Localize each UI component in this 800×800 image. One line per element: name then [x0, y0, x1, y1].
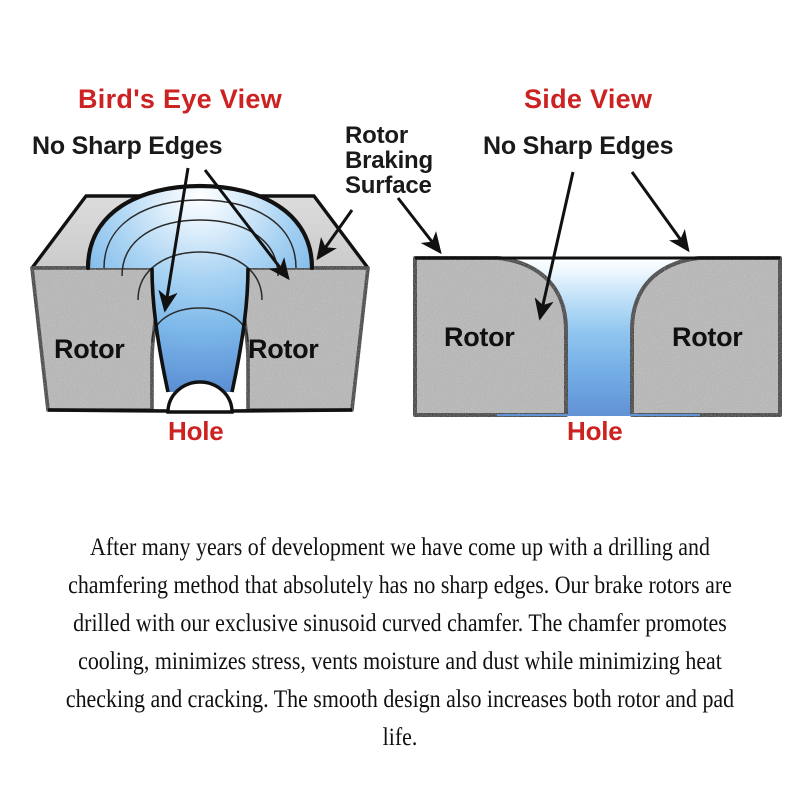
birds-eye-rotor-label-right: Rotor: [248, 334, 318, 365]
block-bottom-edge-right: [232, 410, 352, 411]
rotor-chamfer-illustration: [0, 0, 800, 470]
side-view-title: Side View: [524, 86, 652, 114]
side-view-rotor-label-left: Rotor: [444, 322, 514, 353]
arrow-no-sharp-edges-side-right: [632, 172, 688, 250]
arrow-braking-surface-side: [398, 198, 440, 252]
birds-eye-no-sharp-edges-label: No Sharp Edges: [32, 134, 222, 160]
birds-eye-rotor-label-left: Rotor: [54, 334, 124, 365]
side-view-rotor-label-right: Rotor: [672, 322, 742, 353]
birds-eye-hole-label: Hole: [168, 418, 224, 445]
side-view-no-sharp-edges-label: No Sharp Edges: [483, 134, 673, 160]
description-paragraph: After many years of development we have …: [61, 528, 739, 756]
birds-eye-block: [32, 168, 368, 412]
birds-eye-view-title: Bird's Eye View: [78, 86, 282, 114]
diagram-canvas: Bird's Eye View Side View No Sharp Edges…: [0, 0, 800, 800]
side-view-hole-label: Hole: [567, 418, 623, 445]
rotor-braking-surface-label: Rotor Braking Surface: [345, 124, 433, 199]
side-view-block: [398, 172, 780, 415]
block-bottom-edge-left: [48, 410, 168, 411]
